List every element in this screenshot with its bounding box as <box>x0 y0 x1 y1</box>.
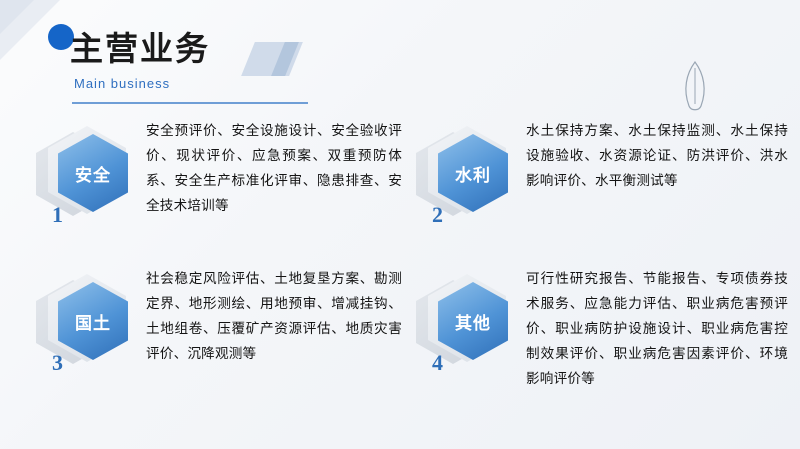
hex-number-2: 2 <box>432 202 443 228</box>
title-chinese: 主营业务 <box>70 28 210 70</box>
corner-decoration-inner <box>0 0 34 34</box>
hex-label-4: 其他 <box>438 282 508 360</box>
business-text-2: 水土保持方案、水土保持监测、水土保持设施验收、水资源论证、防洪评价、洪水影响评价… <box>526 118 788 193</box>
hex-badge-4: 其他 4 <box>416 272 526 388</box>
title-underline <box>72 102 308 104</box>
hex-badge-2: 水利 2 <box>416 124 526 240</box>
hex-number-1: 1 <box>52 202 63 228</box>
hex-number-3: 3 <box>52 350 63 376</box>
business-text-3: 社会稳定风险评估、土地复垦方案、勘测定界、地形测绘、用地预审、增减挂钩、土地组卷… <box>146 266 402 366</box>
title-english: Main business <box>74 76 170 91</box>
pen-icon <box>674 60 716 114</box>
hex-label-3: 国土 <box>58 282 128 360</box>
hex-number-4: 4 <box>432 350 443 376</box>
hex-badge-3: 国土 3 <box>36 272 146 388</box>
hex-badge-1: 安全 1 <box>36 124 146 240</box>
slide: 主营业务 Main business 安全 1 安全预评价、安全设施设计、安全验… <box>0 0 800 449</box>
page-title: 主营业务 Main business <box>42 18 462 108</box>
hex-label-2: 水利 <box>438 134 508 212</box>
business-text-1: 安全预评价、安全设施设计、安全验收评价、现状评价、应急预案、双重预防体系、安全生… <box>146 118 402 218</box>
business-grid: 安全 1 安全预评价、安全设施设计、安全验收评价、现状评价、应急预案、双重预防体… <box>30 118 774 418</box>
business-text-4: 可行性研究报告、节能报告、专项债券技术服务、应急能力评估、职业病危害预评价、职业… <box>526 266 788 391</box>
hex-label-1: 安全 <box>58 134 128 212</box>
